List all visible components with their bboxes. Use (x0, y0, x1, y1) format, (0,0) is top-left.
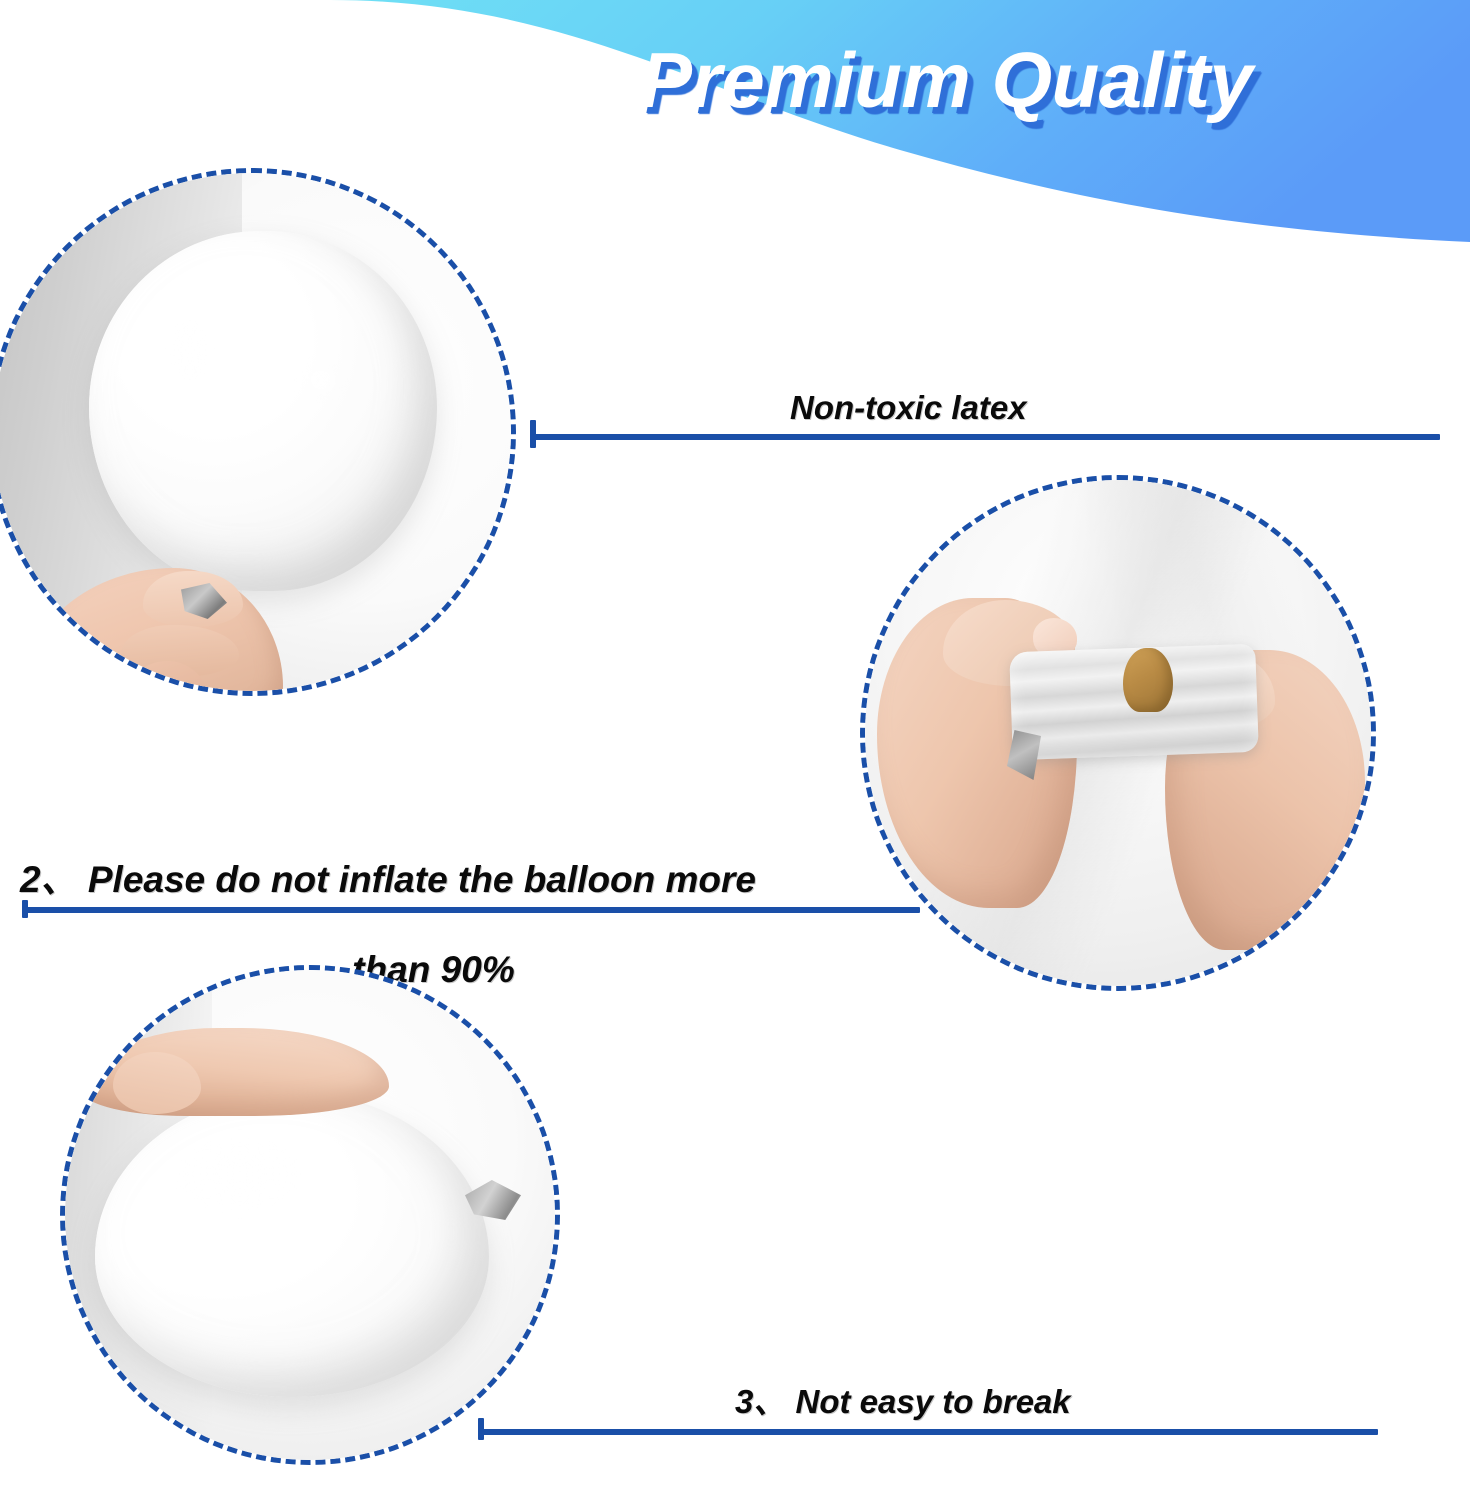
infographic-page: Premium Quality Non-toxic latex (0, 0, 1470, 1500)
callout-label-line-1: 2、 Please do not inflate the balloon mor… (20, 857, 865, 902)
callout-line-3 (478, 1429, 1378, 1435)
photo-circle-pressing-balloon (60, 965, 560, 1465)
callout-line-1 (530, 434, 1440, 440)
photo-circle-inflated-balloon (0, 168, 516, 696)
callout-label-not-easy-to-break: 3、 Not easy to break (735, 1382, 1071, 1422)
photo-stretching-latex (865, 480, 1371, 986)
callout-label-non-toxic-latex: Non-toxic latex (790, 388, 1027, 428)
page-title: Premium Quality (640, 38, 1470, 122)
callout-line-2 (22, 907, 920, 913)
photo-pressing-balloon (65, 970, 555, 1460)
photo-circle-stretching-latex (860, 475, 1376, 991)
balloon-highlight (169, 321, 211, 379)
balloon-highlight-secondary (298, 358, 344, 402)
balloon-shape (89, 231, 437, 591)
finger-protector-icon (1123, 648, 1173, 712)
photo-inflated-balloon-in-hand (0, 173, 511, 691)
balloon-highlight (175, 1138, 305, 1210)
